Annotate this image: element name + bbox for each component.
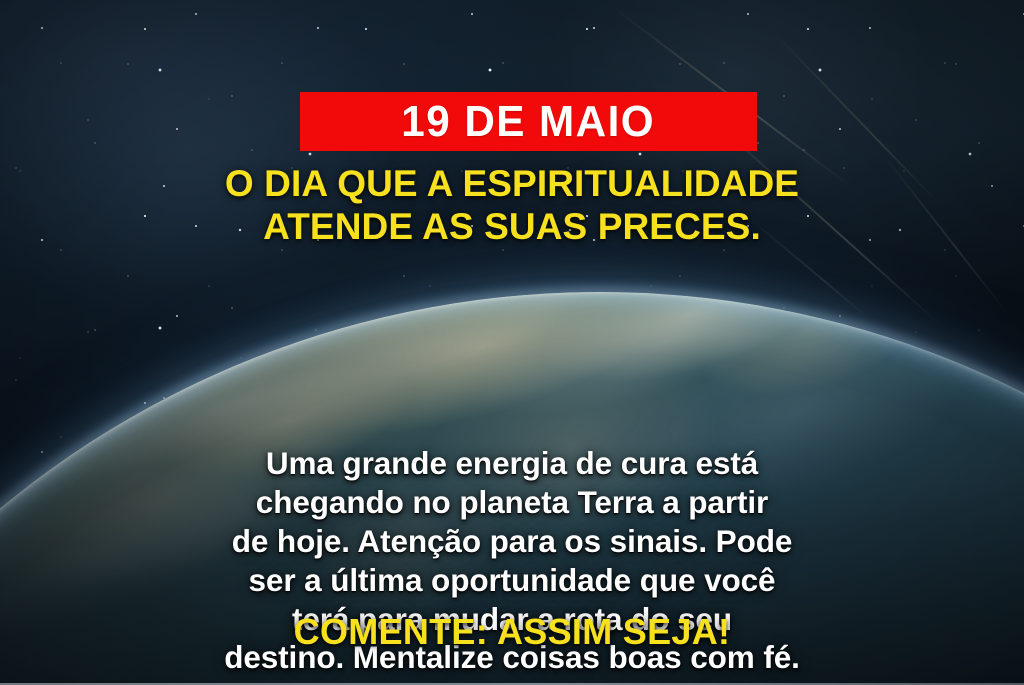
call-to-action: COMENTE: ASSIM SEJA! [0, 612, 1024, 652]
headline-line-1: O DIA QUE A ESPIRITUALIDADE [0, 163, 1024, 206]
body-line-2: chegando no planeta Terra a partir [62, 483, 962, 522]
headline-line-2: ATENDE AS SUAS PRECES. [0, 206, 1024, 249]
poster-canvas: 19 DE MAIO O DIA QUE A ESPIRITUALIDADE A… [0, 0, 1024, 685]
headline: O DIA QUE A ESPIRITUALIDADE ATENDE AS SU… [0, 163, 1024, 249]
date-banner-label: 19 DE MAIO [402, 100, 656, 144]
body-line-1: Uma grande energia de cura está [62, 444, 962, 483]
date-banner: 19 DE MAIO [300, 92, 757, 151]
body-line-3: de hoje. Atenção para os sinais. Pode [62, 522, 962, 561]
poster-content: 19 DE MAIO O DIA QUE A ESPIRITUALIDADE A… [0, 0, 1024, 685]
body-line-4: ser a última oportunidade que você [62, 561, 962, 600]
